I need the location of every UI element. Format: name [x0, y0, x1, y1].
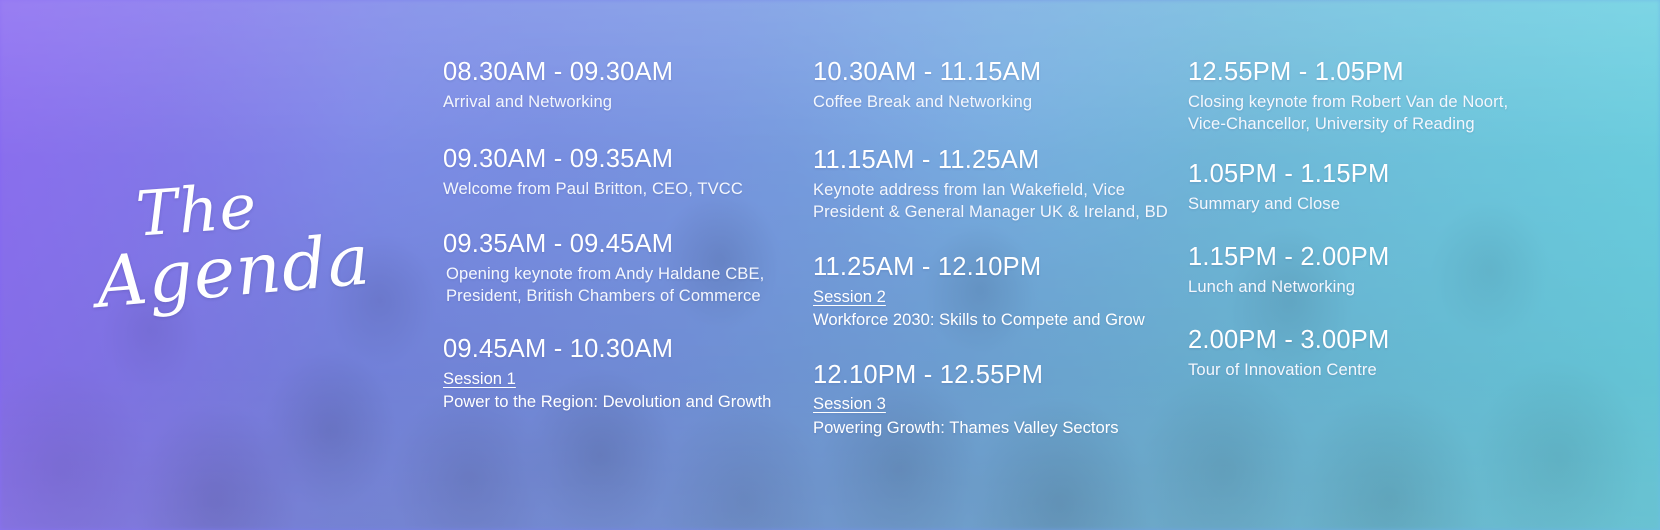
agenda-item-time: 11.15AM - 11.25AM: [813, 144, 1168, 177]
agenda-item: 1.15PM - 2.00PM Lunch and Networking: [1188, 241, 1548, 298]
agenda-item-description: Lunch and Networking: [1188, 276, 1548, 298]
agenda-item: 09.30AM - 09.35AM Welcome from Paul Brit…: [443, 143, 793, 200]
agenda-item-description: Opening keynote from Andy Haldane CBE, P…: [443, 263, 793, 308]
agenda-item: 12.10PM - 12.55PM Session 3 Powering Gro…: [813, 359, 1168, 439]
agenda-item-time: 12.10PM - 12.55PM: [813, 359, 1168, 392]
agenda-item-time: 12.55PM - 1.05PM: [1188, 56, 1548, 89]
agenda-item-session-title: Powering Growth: Thames Valley Sectors: [813, 417, 1168, 439]
agenda-item-time: 08.30AM - 09.30AM: [443, 56, 793, 89]
agenda-item: 09.45AM - 10.30AM Session 1 Power to the…: [443, 333, 793, 413]
agenda-item-description: Keynote address from Ian Wakefield, Vice…: [813, 179, 1168, 224]
agenda-item-session-title: Workforce 2030: Skills to Compete and Gr…: [813, 309, 1168, 331]
agenda-item-time: 1.05PM - 1.15PM: [1188, 158, 1548, 191]
agenda-item: 12.55PM - 1.05PM Closing keynote from Ro…: [1188, 56, 1548, 135]
agenda-item: 09.35AM - 09.45AM Opening keynote from A…: [443, 228, 793, 307]
agenda-item-session-label: Session 3: [813, 393, 886, 415]
agenda-item-description: Coffee Break and Networking: [813, 91, 1168, 113]
agenda-column-1: 08.30AM - 09.30AM Arrival and Networking…: [443, 56, 793, 428]
agenda-item-time: 10.30AM - 11.15AM: [813, 56, 1168, 89]
agenda-item-time: 09.45AM - 10.30AM: [443, 333, 793, 366]
agenda-item-session-title: Power to the Region: Devolution and Grow…: [443, 391, 793, 413]
agenda-item-session-label: Session 2: [813, 286, 886, 308]
agenda-banner: The Agenda 08.30AM - 09.30AM Arrival and…: [0, 0, 1660, 530]
agenda-item: 10.30AM - 11.15AM Coffee Break and Netwo…: [813, 56, 1168, 113]
agenda-item: 11.25AM - 12.10PM Session 2 Workforce 20…: [813, 251, 1168, 331]
page-title-line-2: Agenda: [94, 224, 399, 316]
agenda-item-time: 2.00PM - 3.00PM: [1188, 324, 1548, 357]
agenda-item-description: Tour of Innovation Centre: [1188, 359, 1548, 381]
agenda-item-time: 09.35AM - 09.45AM: [443, 228, 793, 261]
agenda-content: The Agenda 08.30AM - 09.30AM Arrival and…: [0, 0, 1660, 530]
agenda-item: 1.05PM - 1.15PM Summary and Close: [1188, 158, 1548, 215]
agenda-item-description: Arrival and Networking: [443, 91, 793, 113]
agenda-item: 2.00PM - 3.00PM Tour of Innovation Centr…: [1188, 324, 1548, 381]
agenda-item-description: Closing keynote from Robert Van de Noort…: [1188, 91, 1548, 136]
agenda-item-description: Summary and Close: [1188, 193, 1548, 215]
agenda-item-session-label: Session 1: [443, 368, 516, 390]
page-title: The Agenda: [96, 178, 396, 303]
agenda-item: 08.30AM - 09.30AM Arrival and Networking: [443, 56, 793, 113]
agenda-item-description: Welcome from Paul Britton, CEO, TVCC: [443, 178, 793, 200]
agenda-column-3: 12.55PM - 1.05PM Closing keynote from Ro…: [1188, 56, 1548, 395]
agenda-column-2: 10.30AM - 11.15AM Coffee Break and Netwo…: [813, 56, 1168, 453]
agenda-item-time: 09.30AM - 09.35AM: [443, 143, 793, 176]
agenda-item-time: 11.25AM - 12.10PM: [813, 251, 1168, 284]
agenda-item-time: 1.15PM - 2.00PM: [1188, 241, 1548, 274]
agenda-item: 11.15AM - 11.25AM Keynote address from I…: [813, 144, 1168, 223]
